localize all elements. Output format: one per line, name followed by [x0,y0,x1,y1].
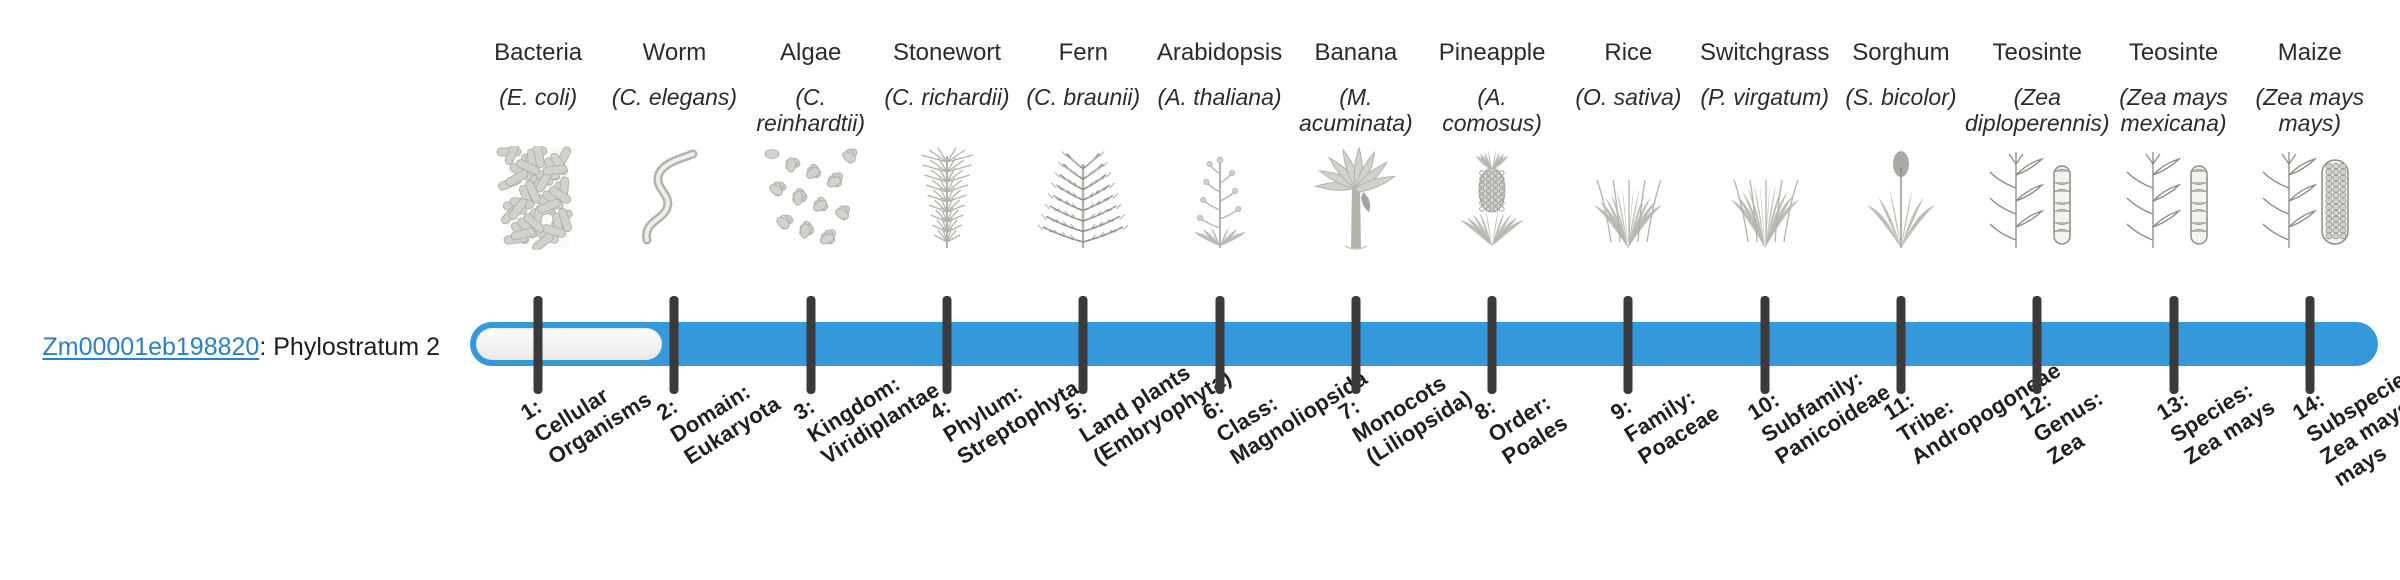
species-common-name: Sorghum [1852,40,1949,70]
species-scientific-name: (Zea mays mays) [2242,84,2378,142]
species-scientific-name: (C. richardii) [882,84,1011,142]
species-common-name: Arabidopsis [1157,40,1282,70]
phylostratum-timeline: Zm00001eb198820: Phylostratum 2 Bacteria… [0,0,2400,580]
stonewort-icon [879,146,1015,250]
species-scientific-name: (A. thaliana) [1156,84,1284,142]
species-column: Arabidopsis(A. thaliana) [1151,40,1287,320]
worm-icon [606,146,742,250]
progress-unfilled-region [476,328,662,360]
rice-icon [1560,146,1696,250]
species-scientific-name: (C. reinhardtii) [743,84,879,142]
phylostratum-tick[interactable] [2169,296,2178,394]
switchgrass-icon [1697,146,1833,250]
species-common-name: Worm [643,40,707,70]
species-column: Switchgrass(P. virgatum) [1697,40,1833,320]
species-common-name: Stonewort [893,40,1001,70]
species-column: Rice(O. sativa) [1560,40,1696,320]
gene-label-separator: : [259,333,273,361]
sorghum-icon [1833,146,1969,250]
teosinte-ear-icon [2105,146,2241,250]
species-column: Algae(C. reinhardtii) [743,40,879,320]
species-common-name: Teosinte [2129,40,2218,70]
species-common-name: Bacteria [494,40,582,70]
species-scientific-name: (Zea diploperennis) [1963,84,2111,142]
species-column: Fern(C. braunii) [1015,40,1151,320]
species-scientific-name: (M. acuminata) [1288,84,1424,142]
species-scientific-name: (P. virgatum) [1698,84,1831,142]
species-scientific-name: (O. sativa) [1573,84,1683,142]
species-column: Teosinte(Zea diploperennis) [1969,40,2105,320]
phylostratum-tick[interactable] [1215,296,1224,394]
fern-icon [1015,146,1151,250]
teosinte-ear-icon [1969,146,2105,250]
gene-phylostratum-label: Zm00001eb198820: Phylostratum 2 [0,334,440,362]
species-column: Teosinte(Zea mays mexicana) [2105,40,2241,320]
phylostratum-tick[interactable] [1897,296,1906,394]
maize-ear-icon [2242,146,2378,250]
species-column: Pineapple(A. comosus) [1424,40,1560,320]
species-common-name: Banana [1314,40,1397,70]
phylostratum-tick[interactable] [1624,296,1633,394]
phylostratum-value-text: Phylostratum 2 [273,333,440,361]
species-scientific-name: (S. bicolor) [1843,84,1958,142]
species-common-name: Teosinte [1993,40,2082,70]
bacteria-icon [470,146,606,250]
phylostratum-tick[interactable] [1760,296,1769,394]
phylostratum-tick[interactable] [2305,296,2314,394]
algae-icon [743,146,879,250]
phylostratum-tick[interactable] [2033,296,2042,394]
arabidopsis-icon [1151,146,1287,250]
banana-icon [1288,146,1424,250]
species-column: Maize(Zea mays mays) [2242,40,2378,320]
phylostratum-tick[interactable] [806,296,815,394]
species-scientific-name: (E. coli) [497,84,579,142]
species-column: Banana(M. acuminata) [1288,40,1424,320]
species-common-name: Fern [1059,40,1108,70]
species-common-name: Rice [1604,40,1652,70]
species-scientific-name: (Zea mays mexicana) [2105,84,2241,142]
phylostratum-tick[interactable] [1079,296,1088,394]
phylostratum-rank-label: 8: Order: Poales [1470,366,1572,470]
phylostratum-tick[interactable] [670,296,679,394]
species-scientific-name: (C. elegans) [610,84,739,142]
phylostratum-tick[interactable] [534,296,543,394]
species-scientific-name: (A. comosus) [1424,84,1560,142]
gene-id-link[interactable]: Zm00001eb198820 [42,333,259,361]
species-common-name: Pineapple [1439,40,1546,70]
species-scientific-name: (C. braunii) [1024,84,1142,142]
species-common-name: Maize [2278,40,2342,70]
species-common-name: Switchgrass [1700,40,1829,70]
phylostratum-tick[interactable] [1488,296,1497,394]
species-column: Bacteria(E. coli) [470,40,606,320]
phylostratum-tick[interactable] [1351,296,1360,394]
species-common-name: Algae [780,40,841,70]
species-column: Worm(C. elegans) [606,40,742,320]
phylostratum-tick[interactable] [943,296,952,394]
pineapple-icon [1424,146,1560,250]
species-column: Sorghum(S. bicolor) [1833,40,1969,320]
species-columns: Bacteria(E. coli) [470,40,2378,320]
species-column: Stonewort(C. richardii) [879,40,1015,320]
